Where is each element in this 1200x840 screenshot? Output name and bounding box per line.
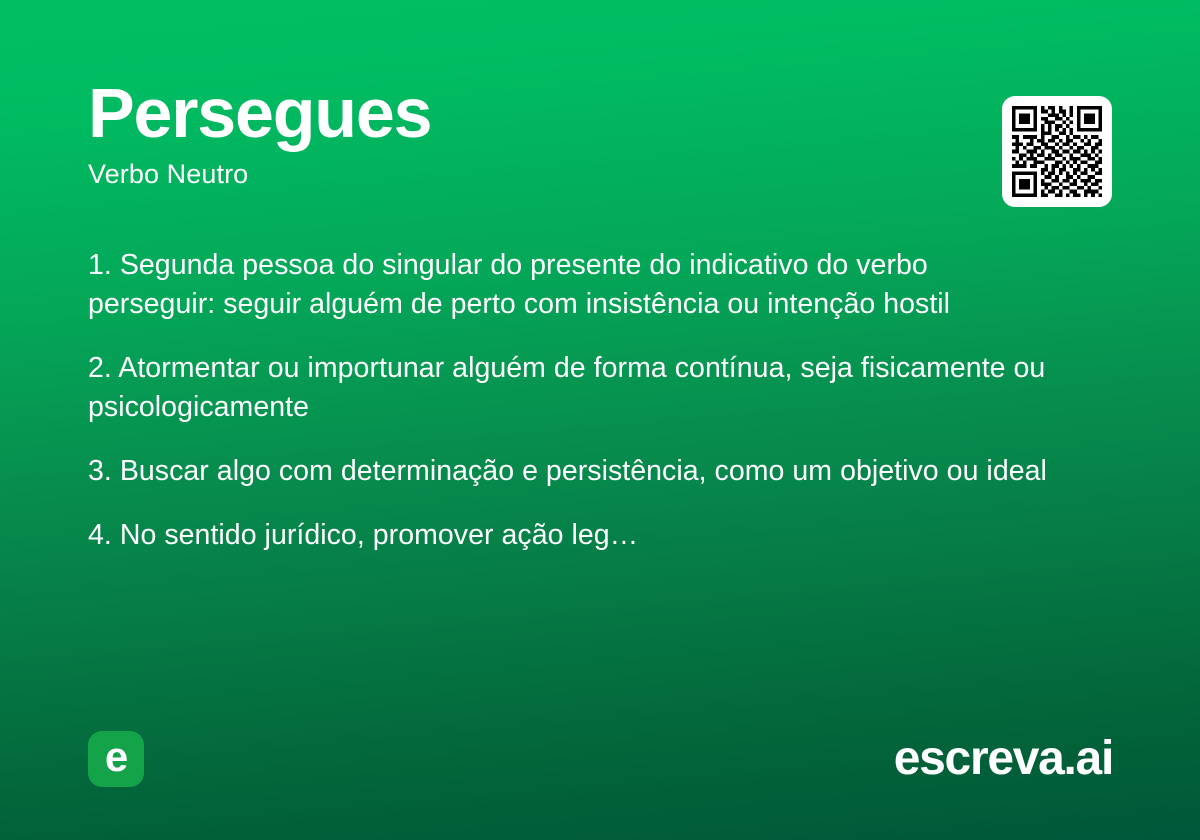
page-title: Persegues <box>88 78 1112 148</box>
card-header: Persegues Verbo Neutro <box>88 78 1112 208</box>
definition-item: 4. No sentido jurídico, promover ação le… <box>88 516 1058 555</box>
brand-logo-letter: e <box>105 736 127 778</box>
qr-code-icon <box>1012 106 1102 197</box>
word-class-label: Verbo Neutro <box>88 160 1112 190</box>
definition-item: 1. Segunda pessoa do singular do present… <box>88 246 1058 324</box>
qr-code-panel[interactable] <box>1002 96 1112 207</box>
dictionary-card: Persegues Verbo Neutro 1. Segunda pessoa… <box>0 0 1200 840</box>
definition-item: 2. Atormentar ou importunar alguém de fo… <box>88 349 1058 427</box>
definition-list: 1. Segunda pessoa do singular do present… <box>88 246 1058 555</box>
brand-wordmark: escreva.ai <box>894 735 1113 783</box>
card-footer: e escreva.ai <box>88 730 1113 788</box>
brand-logo: e <box>88 731 144 787</box>
definition-item: 3. Buscar algo com determinação e persis… <box>88 452 1058 491</box>
